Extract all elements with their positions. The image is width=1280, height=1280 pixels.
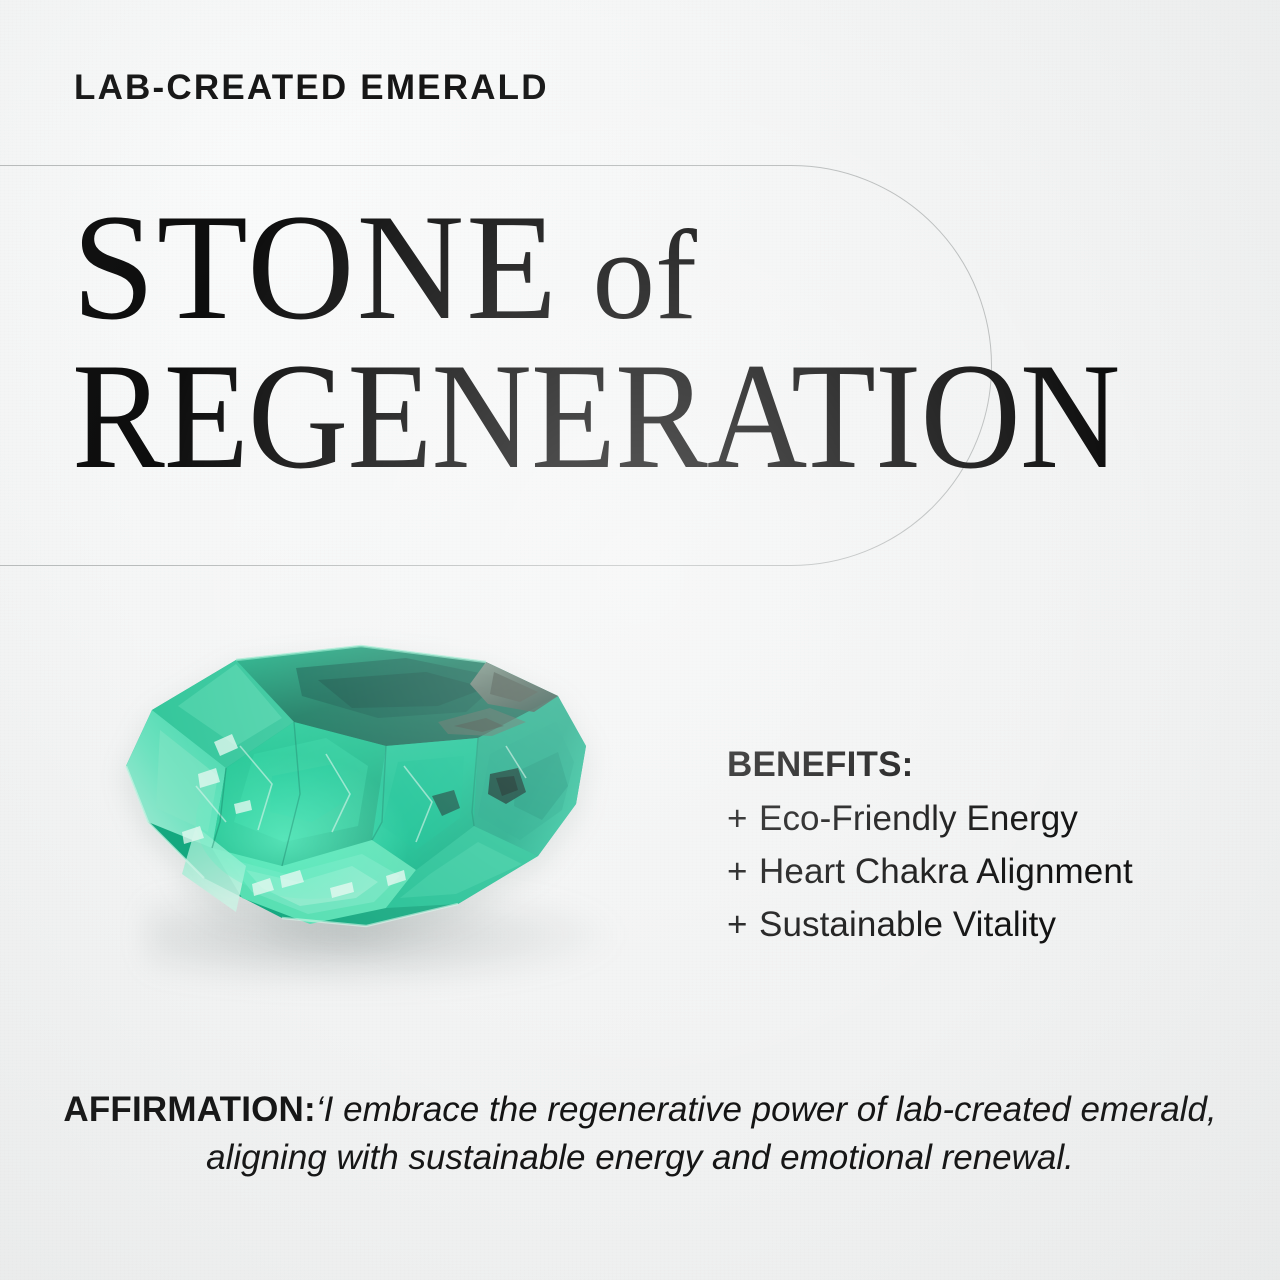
affirmation-block: AFFIRMATION:‘I embrace the regenerative … — [60, 1086, 1220, 1181]
benefit-item: +Eco-Friendly Energy — [727, 792, 1267, 845]
page-title: STONEof REGENERATION — [72, 196, 1252, 488]
plus-icon: + — [727, 898, 759, 951]
benefit-label: Heart Chakra Alignment — [759, 852, 1133, 891]
poster-canvas: LAB-CREATED EMERALD STONEof REGENERATION — [0, 0, 1280, 1280]
eyebrow-label: LAB-CREATED EMERALD — [74, 70, 549, 105]
benefits-list: +Eco-Friendly Energy +Heart Chakra Align… — [727, 792, 1267, 952]
benefit-label: Eco-Friendly Energy — [759, 799, 1078, 838]
affirmation-label: AFFIRMATION: — [63, 1090, 316, 1129]
emerald-figure — [86, 626, 646, 1026]
benefits-heading: BENEFITS: — [727, 745, 1267, 786]
title-word-of: of — [559, 204, 697, 346]
benefit-item: +Heart Chakra Alignment — [727, 845, 1267, 898]
title-word-stone: STONE — [72, 183, 559, 351]
benefit-item: +Sustainable Vitality — [727, 898, 1267, 951]
plus-icon: + — [727, 792, 759, 845]
title-line-2: REGENERATION — [72, 345, 1152, 488]
benefit-label: Sustainable Vitality — [759, 905, 1056, 944]
affirmation-quote: ‘I embrace the regenerative power of lab… — [206, 1090, 1217, 1177]
plus-icon: + — [727, 845, 759, 898]
emerald-gemstone-icon — [86, 626, 646, 966]
benefits-block: BENEFITS: +Eco-Friendly Energy +Heart Ch… — [727, 745, 1267, 951]
title-line-1: STONEof — [72, 196, 1228, 339]
